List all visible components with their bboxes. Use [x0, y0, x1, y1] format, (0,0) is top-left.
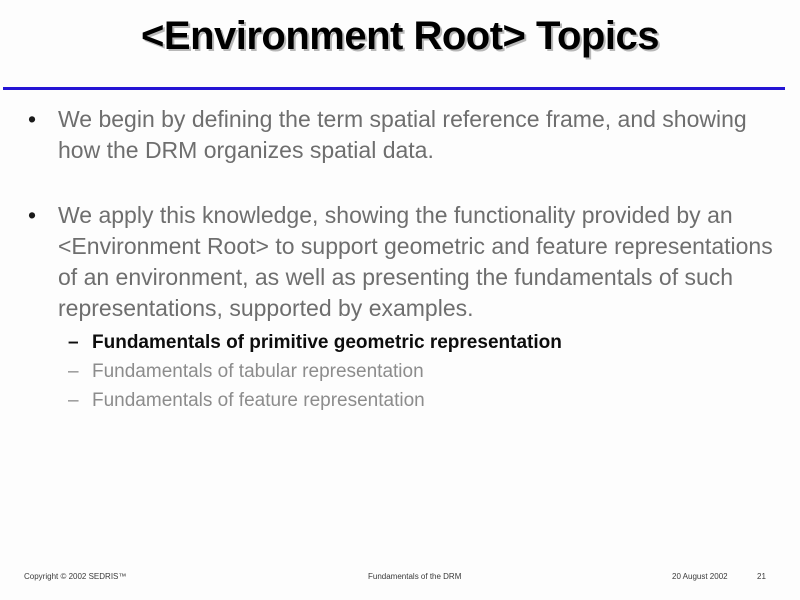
dash-marker-icon: – — [68, 330, 79, 356]
sub-bullet-text: Fundamentals of primitive geometric repr… — [92, 332, 562, 353]
bullet-item: • We begin by defining the term spatial … — [0, 104, 800, 166]
footer-copyright: Copyright © 2002 SEDRIS™ — [24, 572, 126, 581]
slide: <Environment Root> Topics • We begin by … — [0, 0, 800, 600]
footer-presentation-title: Fundamentals of the DRM — [368, 572, 461, 581]
footer-page-number: 21 — [757, 572, 766, 581]
dash-marker-icon: – — [68, 388, 79, 414]
bullet-marker-icon: • — [28, 104, 36, 135]
dash-marker-icon: – — [68, 359, 79, 385]
title-area: <Environment Root> Topics — [0, 14, 800, 58]
sub-bullet-text: Fundamentals of feature representation — [92, 390, 425, 411]
sub-bullet-text: Fundamentals of tabular representation — [92, 361, 424, 382]
sub-bullet-item: – Fundamentals of tabular representation — [0, 359, 800, 385]
sub-bullet-item: – Fundamentals of primitive geometric re… — [0, 330, 800, 356]
bullet-item: • We apply this knowledge, showing the f… — [0, 200, 800, 324]
bullet-text: We begin by defining the term spatial re… — [58, 106, 747, 163]
page-title: <Environment Root> Topics — [0, 14, 800, 58]
title-divider — [3, 87, 785, 90]
footer-date: 20 August 2002 — [672, 572, 728, 581]
sub-bullet-list: – Fundamentals of primitive geometric re… — [0, 330, 800, 414]
body-content: • We begin by defining the term spatial … — [0, 104, 800, 417]
paragraph-spacer — [0, 172, 800, 200]
bullet-text: We apply this knowledge, showing the fun… — [58, 202, 773, 321]
slide-footer: Copyright © 2002 SEDRIS™ Fundamentals of… — [0, 560, 800, 600]
bullet-marker-icon: • — [28, 200, 36, 231]
sub-bullet-item: – Fundamentals of feature representation — [0, 388, 800, 414]
